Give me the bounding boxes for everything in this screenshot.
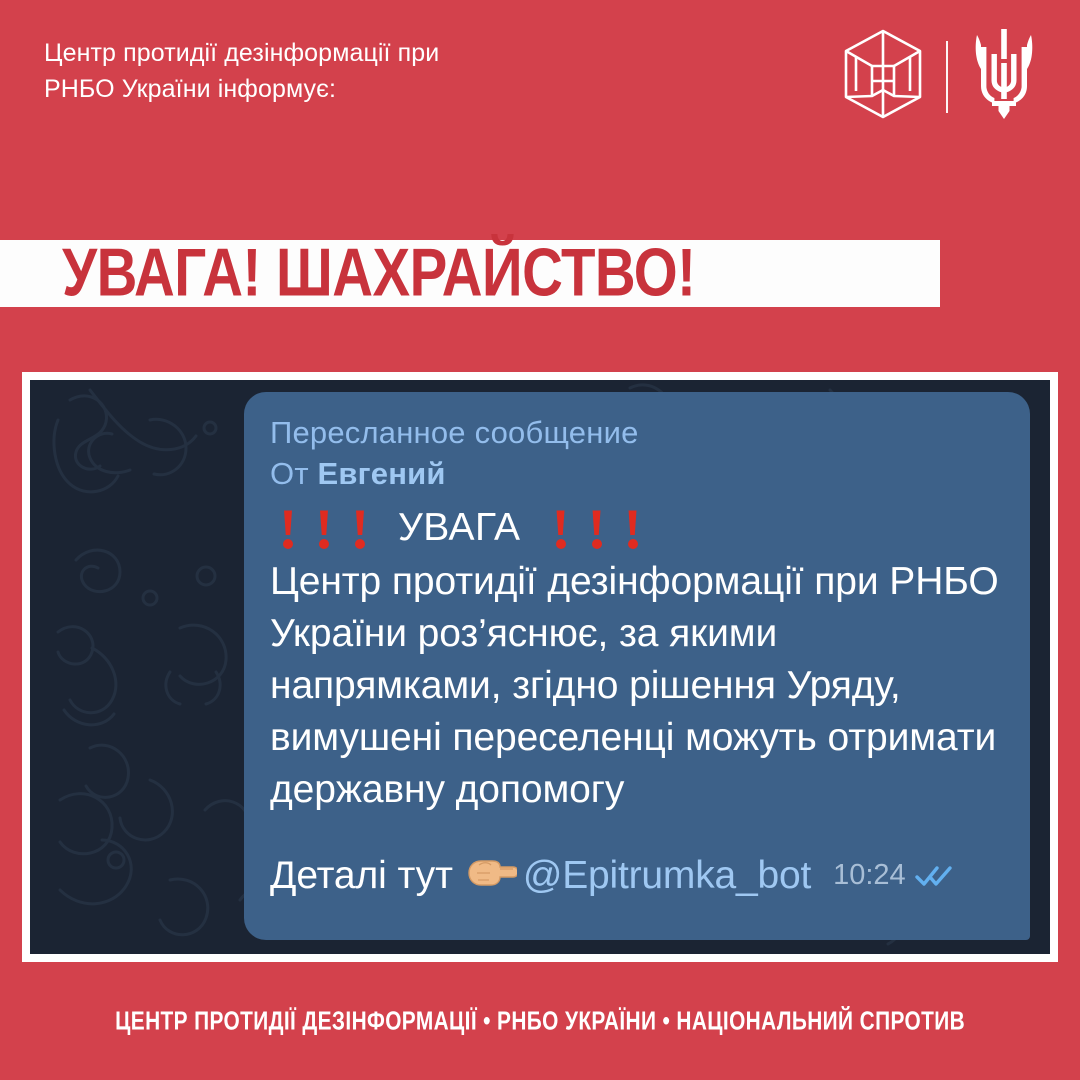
alert-title-banner: УВАГА! ШАХРАЙСТВО! [0,240,940,307]
logo-group [842,27,1038,126]
forwarded-message-label: Пересланное сообщение [270,412,1004,453]
exclamation-mark-icon [543,506,579,550]
exclamation-mark-icon [615,506,651,550]
message-footer-line: Деталі тут @Epitrumka_bot 10:24 [270,854,1004,898]
message-body-text: Центр протидії дезінформації при РНБО Ук… [270,556,1004,815]
exclamation-mark-icon [270,506,306,550]
footer-brand-text: ЦЕНТР ПРОТИДІЇ ДЕЗІНФОРМАЦІЇ • РНБО УКРА… [115,1006,965,1037]
forwarded-from-author[interactable]: Евгений [318,456,446,491]
telegram-chat-background: Пересланное сообщение От Евгений УВАГА Ц… [30,380,1050,954]
double-check-read-icon [915,865,953,887]
forwarded-from-line: От Евгений [270,453,1004,494]
ukraine-trident-icon [970,27,1038,126]
logo-divider [946,41,948,113]
exclamation-mark-icon [306,506,342,550]
forwarded-from-prefix: От [270,456,309,491]
attention-heading-line: УВАГА [270,502,1004,554]
message-timestamp: 10:24 [833,859,906,892]
exclamation-mark-icon [342,506,378,550]
header-organization-text: Центр протидії дезінформації при РНБО Ук… [44,36,439,107]
details-here-text: Деталі тут [270,854,453,898]
cube-logo-icon [842,28,924,125]
page-header: Центр протидії дезінформації при РНБО Ук… [0,0,1080,205]
exclamation-mark-icon [579,506,615,550]
telegram-message-bubble[interactable]: Пересланное сообщение От Евгений УВАГА Ц… [244,392,1030,940]
page-footer: ЦЕНТР ПРОТИДІЇ ДЕЗІНФОРМАЦІЇ • РНБО УКРА… [0,962,1080,1080]
bot-handle-link[interactable]: @Epitrumka_bot [523,854,811,898]
pointing-right-hand-icon [465,857,517,895]
alert-title-text: УВАГА! ШАХРАЙСТВО! [62,240,695,307]
telegram-screenshot-frame: Пересланное сообщение От Евгений УВАГА Ц… [22,372,1058,962]
attention-word-text: УВАГА [398,506,521,550]
message-meta: 10:24 [833,859,953,892]
